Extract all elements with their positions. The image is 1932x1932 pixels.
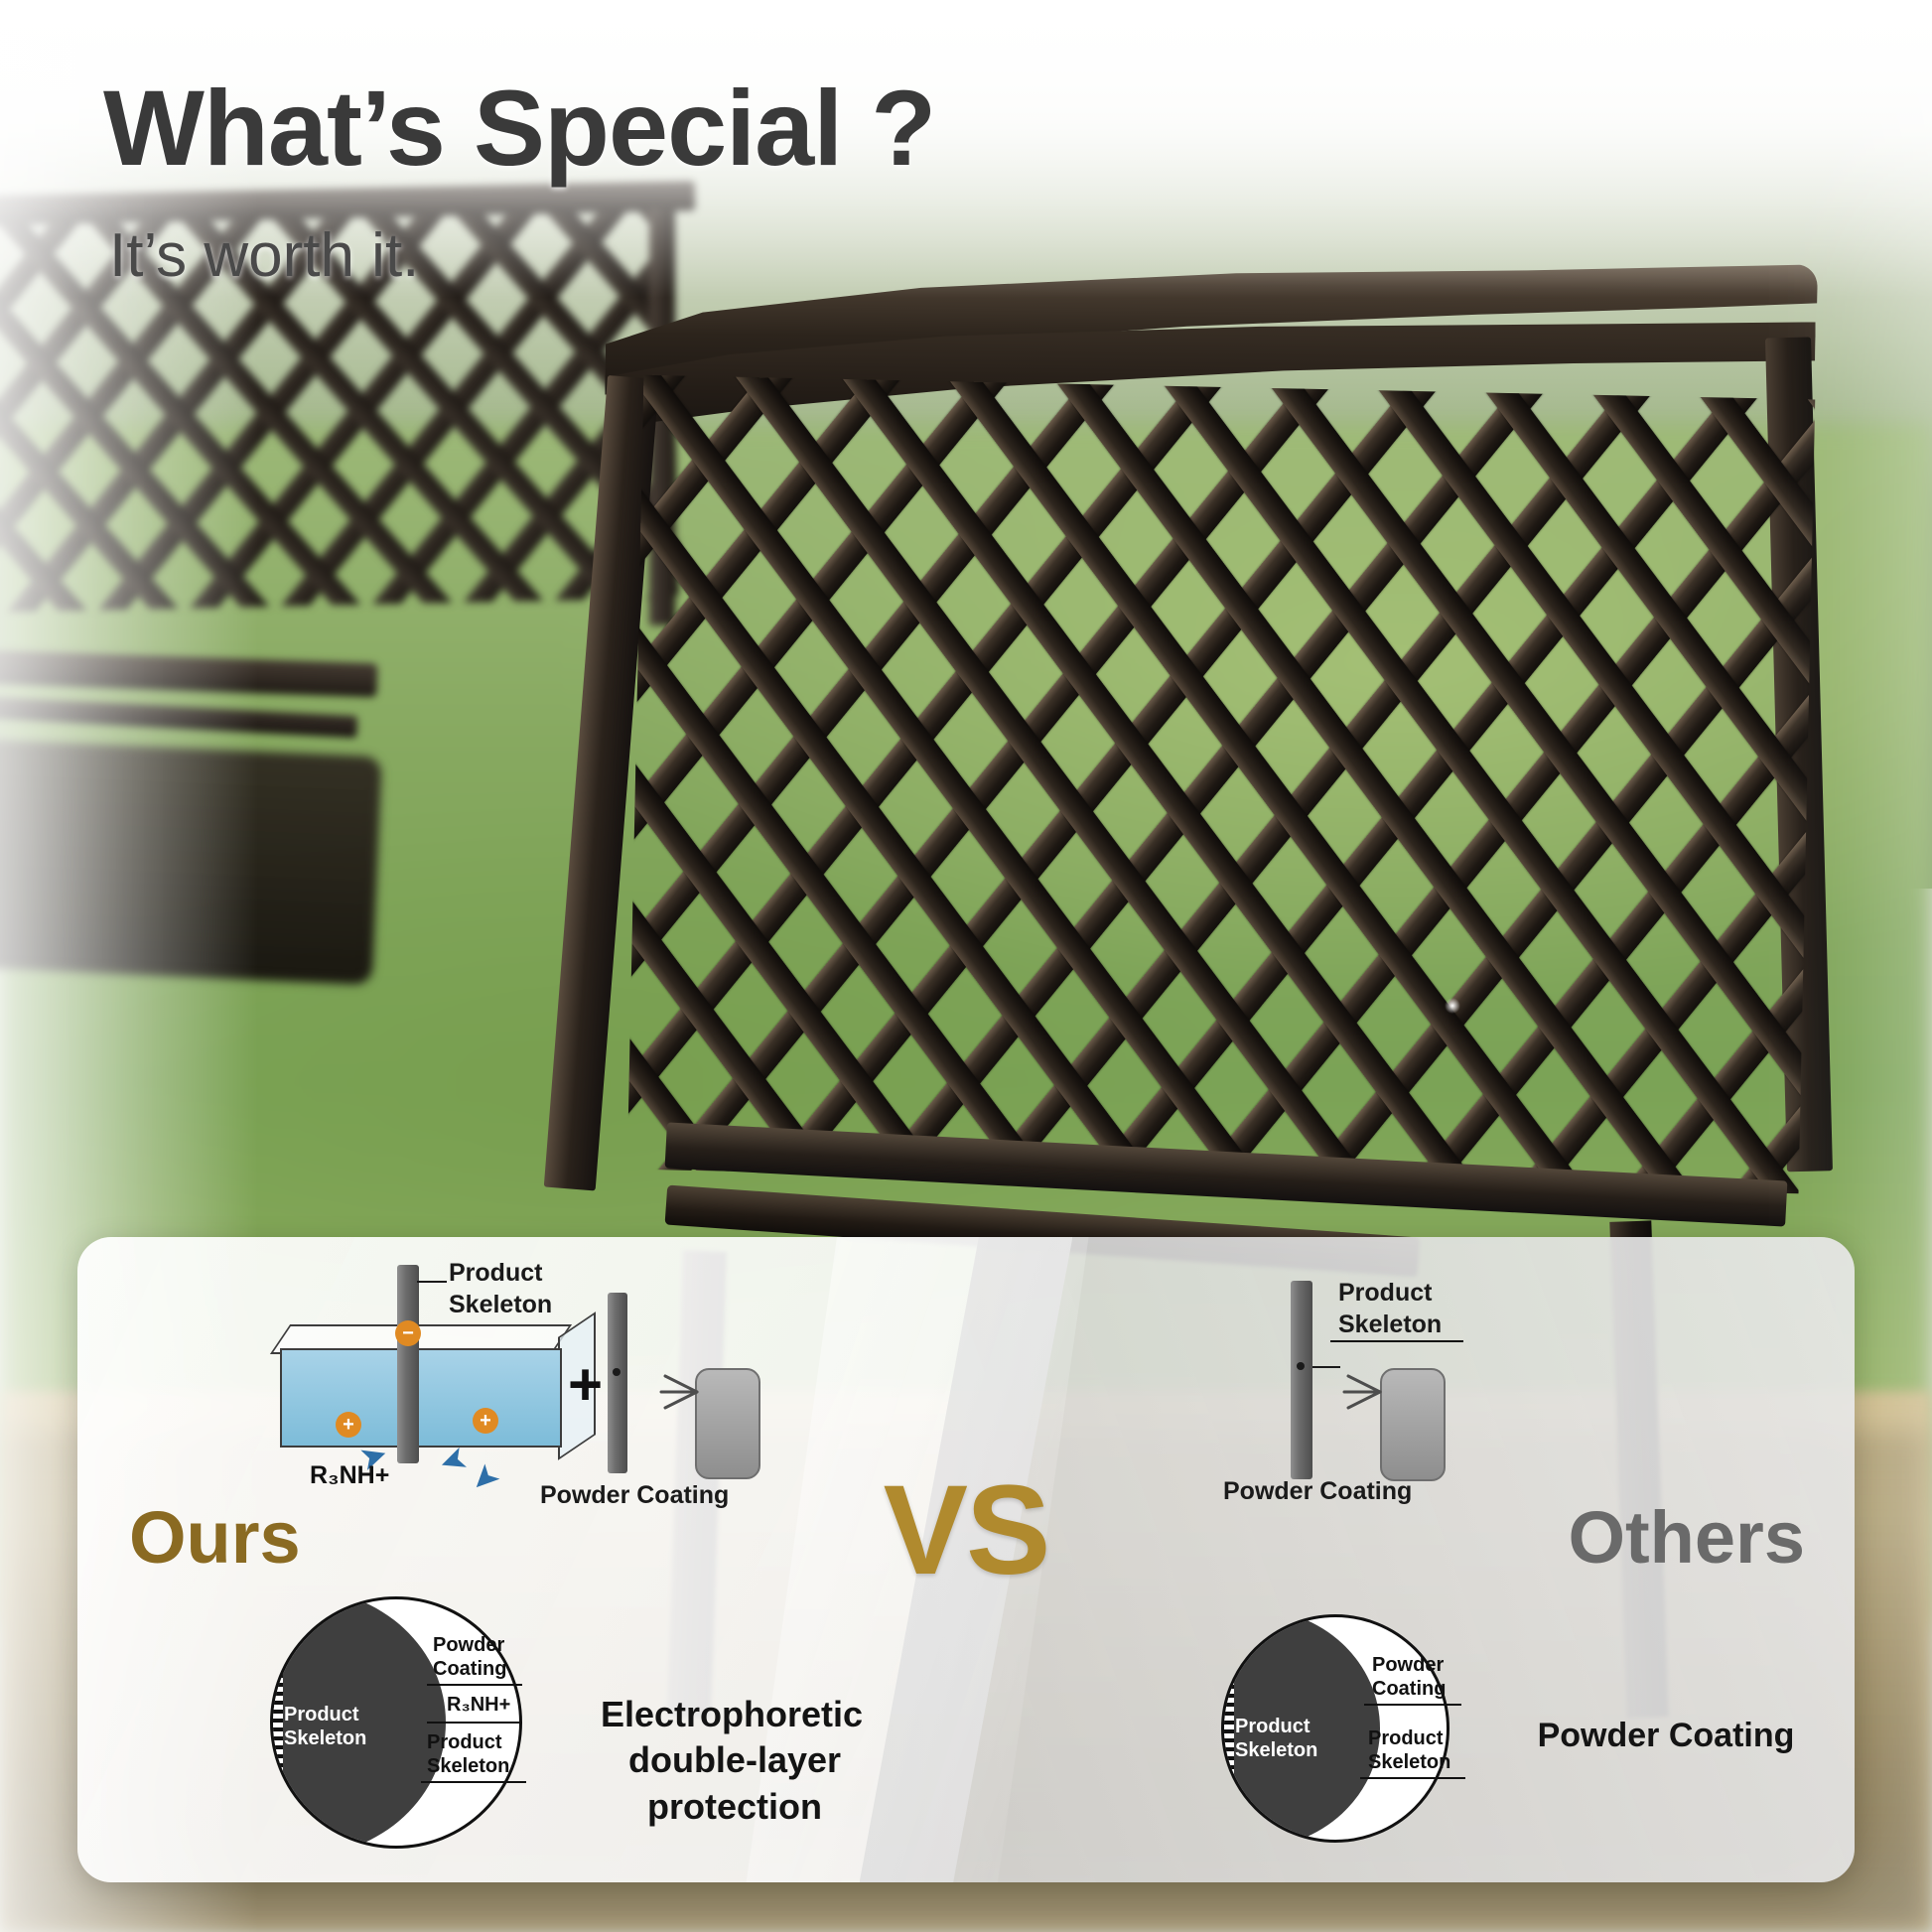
ours-callout-solution: R₃NH+ xyxy=(447,1694,510,1716)
ion-positive-1: + xyxy=(336,1412,361,1438)
solution-formula-label: R₃NH+ xyxy=(310,1461,389,1490)
ours-callout-powder-line1: Powder xyxy=(433,1634,504,1656)
ours-spray-gun xyxy=(695,1368,760,1479)
others-callout-rule-1 xyxy=(1364,1704,1461,1706)
ours-callout-rule-1 xyxy=(427,1684,522,1686)
ours-callout-skeleton-line1: Product xyxy=(427,1731,502,1753)
page-subtitle: It’s worth it. xyxy=(109,220,419,291)
others-product-skeleton-label-line2: Skeleton xyxy=(1338,1311,1442,1339)
product-feature-graphic: /*filled below*/ What’s Special ? It’s w… xyxy=(0,0,1932,1932)
ours-callout-skeleton-line2: Skeleton xyxy=(427,1755,509,1777)
ours-verdict-line1: Electrophoretic xyxy=(548,1692,915,1738)
others-callout-powder-line1: Powder xyxy=(1372,1654,1444,1676)
others-core-label-line2: Skeleton xyxy=(1235,1739,1317,1761)
highlight-sparkle xyxy=(1445,998,1460,1014)
ours-core-label-line2: Skeleton xyxy=(284,1727,366,1749)
others-callout-rule-2 xyxy=(1360,1777,1465,1779)
ours-spray-icon xyxy=(647,1364,703,1420)
page-title: What’s Special ? xyxy=(103,66,935,190)
vs-label: VS xyxy=(884,1457,1049,1603)
ion-negative: − xyxy=(395,1320,421,1346)
others-label: Others xyxy=(1568,1495,1805,1580)
ours-powder-coating-label: Powder Coating xyxy=(540,1481,729,1510)
chair-lattice xyxy=(627,375,1815,1194)
others-callout-skeleton-line1: Product xyxy=(1368,1727,1444,1749)
others-product-skeleton-label-line1: Product xyxy=(1338,1279,1432,1308)
others-spray-gun xyxy=(1380,1368,1446,1481)
ours-skeleton-leader-line xyxy=(417,1281,447,1283)
tank-solution xyxy=(280,1348,562,1448)
others-callout-skeleton-line2: Skeleton xyxy=(1368,1751,1450,1773)
others-spray-icon xyxy=(1330,1364,1386,1420)
ours-product-skeleton-label-line1: Product xyxy=(449,1259,542,1288)
ours-coating-target-rod xyxy=(608,1293,627,1473)
others-callout-powder-line2: Coating xyxy=(1372,1678,1446,1700)
ours-label: Ours xyxy=(129,1495,301,1580)
electrophoresis-tank: + + ➤ ➤ ➤ R₃NH+ xyxy=(266,1312,594,1461)
ours-verdict-line2: double-layer protection xyxy=(536,1737,933,1831)
ours-rod-marker xyxy=(613,1368,621,1376)
ion-positive-2: + xyxy=(473,1408,498,1434)
ours-callout-rule-2 xyxy=(427,1722,522,1724)
ours-electrode-rod xyxy=(397,1265,419,1463)
lattice-slat xyxy=(627,375,1223,1194)
others-powder-coating-label: Powder Coating xyxy=(1223,1477,1412,1506)
others-skeleton-rule xyxy=(1330,1340,1463,1342)
ours-callout-powder-line2: Coating xyxy=(433,1658,506,1680)
others-rod-marker xyxy=(1297,1362,1305,1370)
others-product-rod xyxy=(1291,1281,1312,1479)
ours-product-skeleton-label-line2: Skeleton xyxy=(449,1291,552,1319)
ours-core-label-line1: Product xyxy=(284,1704,359,1725)
others-core-label-line1: Product xyxy=(1235,1716,1311,1737)
plus-operator: + xyxy=(568,1350,603,1419)
ours-callout-rule-3 xyxy=(421,1781,526,1783)
others-verdict: Powder Coating xyxy=(1487,1714,1845,1757)
